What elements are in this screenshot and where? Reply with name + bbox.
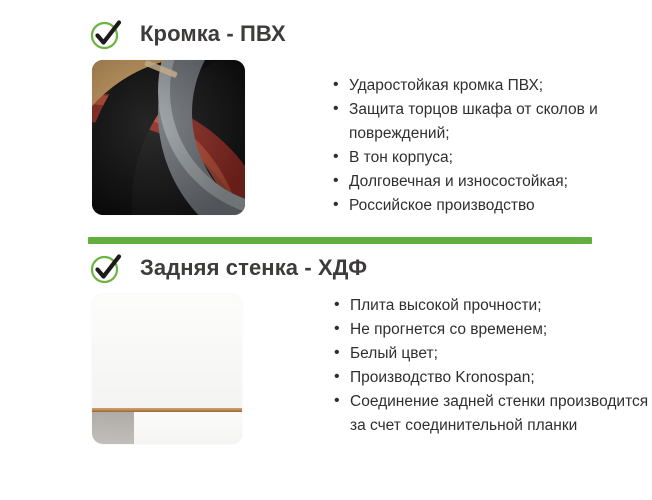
page-title: Задняя стенка - ХДФ xyxy=(140,255,367,281)
photo-scene xyxy=(92,294,242,444)
list-item: Соединение задней стенки производится за… xyxy=(334,390,652,438)
list-item: Производство Kronospan; xyxy=(334,366,652,390)
list-item: Белый цвет; xyxy=(334,342,652,366)
section-header: Кромка - ПВХ xyxy=(0,14,652,54)
product-features-page: Кромка - ПВХ Ударостойкая кромка xyxy=(0,0,652,500)
hdf-board-top xyxy=(92,294,242,408)
list-item: В тон корпуса; xyxy=(333,146,652,170)
section-header: Задняя стенка - ХДФ xyxy=(0,248,652,288)
board-edge-icon xyxy=(92,408,242,412)
section-back-panel-hdf: Задняя стенка - ХДФ Плит xyxy=(0,248,652,444)
list-item: Долговечная и износостойкая; xyxy=(333,170,652,194)
green-divider xyxy=(88,237,592,244)
green-check-circle-icon xyxy=(88,16,124,52)
page-title: Кромка - ПВХ xyxy=(140,21,286,47)
hdf-board-photo xyxy=(92,294,242,444)
list-item: Российское производство xyxy=(333,194,652,218)
photo-scene xyxy=(92,60,245,215)
edge-banding-photo xyxy=(92,60,245,215)
board-shadow xyxy=(92,412,140,444)
feature-list-back-panel-hdf: Плита высокой прочности; Не прогнется со… xyxy=(242,294,652,438)
green-check-circle-icon xyxy=(88,250,124,286)
section-body: Плита высокой прочности; Не прогнется со… xyxy=(0,294,652,444)
list-item: Плита высокой прочности; xyxy=(334,294,652,318)
list-item: Защита торцов шкафа от сколов и поврежде… xyxy=(333,98,652,146)
hdf-board-middle xyxy=(134,412,242,444)
section-edge-pvc: Кромка - ПВХ Ударостойкая кромка xyxy=(0,14,652,218)
list-item: Ударостойкая кромка ПВХ; xyxy=(333,74,652,98)
section-body: Ударостойкая кромка ПВХ; Защита торцов ш… xyxy=(0,60,652,218)
feature-list-edge-pvc: Ударостойкая кромка ПВХ; Защита торцов ш… xyxy=(245,60,652,218)
roll-wood-highlight-icon xyxy=(92,60,245,215)
list-item: Не прогнется со временем; xyxy=(334,318,652,342)
